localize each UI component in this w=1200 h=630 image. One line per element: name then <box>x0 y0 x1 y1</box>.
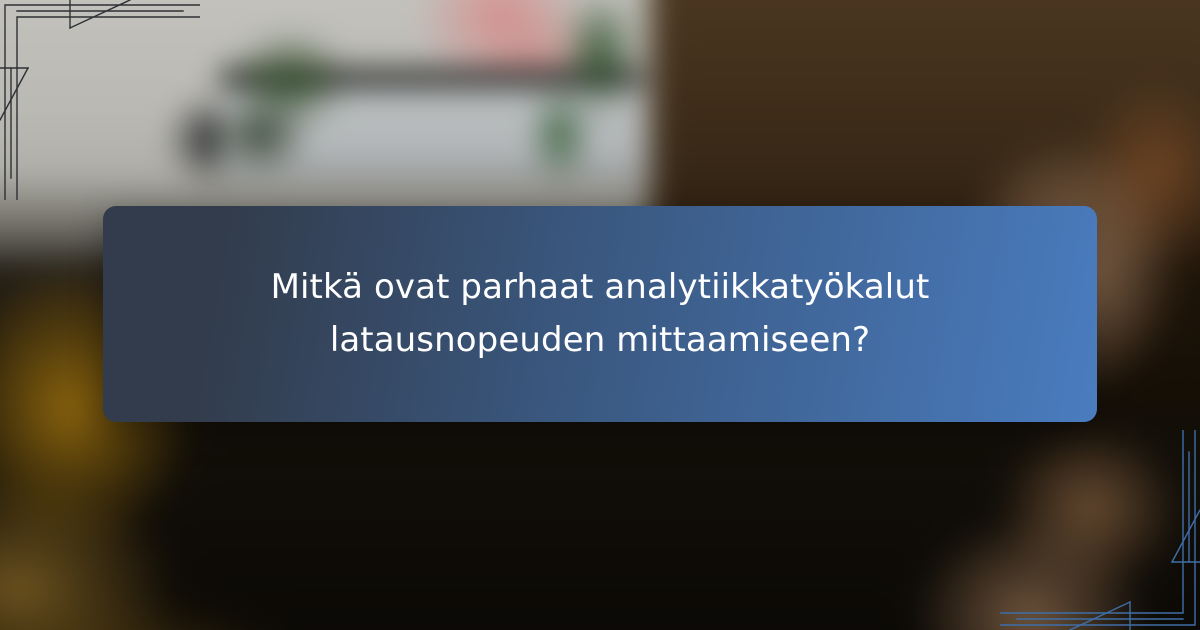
headline-card: Mitkä ovat parhaat analytiikkatyökalut l… <box>103 206 1097 422</box>
page-title-line-2: latausnopeuden mittaamiseen? <box>330 320 870 360</box>
page-title-line-1: Mitkä ovat parhaat analytiikkatyökalut <box>271 267 930 307</box>
page-title: Mitkä ovat parhaat analytiikkatyökalut l… <box>170 261 1030 366</box>
share-card-canvas: Mitkä ovat parhaat analytiikkatyökalut l… <box>0 0 1200 630</box>
